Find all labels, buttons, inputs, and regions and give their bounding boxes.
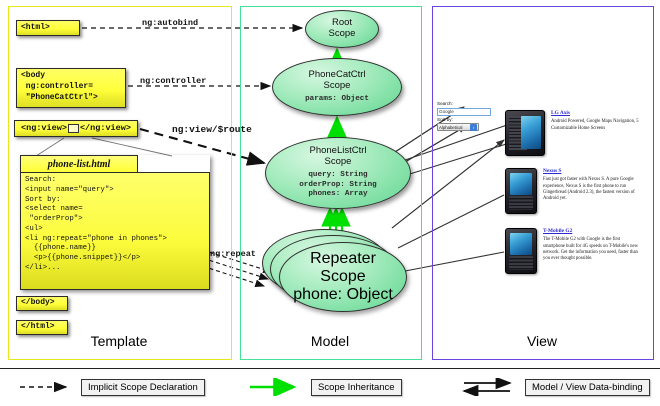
phone-name-link[interactable]: T-Mobile G2 bbox=[543, 228, 643, 234]
search-input[interactable]: Google bbox=[437, 108, 491, 116]
phone-body bbox=[509, 256, 533, 270]
panel-label-template: Template bbox=[8, 333, 230, 349]
scope-repeater: Repeater Scope phone: Object bbox=[279, 242, 407, 312]
legend-label: Implicit Scope Declaration bbox=[81, 379, 205, 396]
scope-phonecatctrl: PhoneCatCtrl Scope params: Object bbox=[272, 58, 402, 116]
code-box-ng-view: <ng:view> </ng:view> bbox=[14, 120, 138, 137]
square-placeholder-icon bbox=[68, 124, 79, 133]
double-arrow-icon bbox=[462, 378, 518, 396]
legend-item-implicit-scope-declaration: Implicit Scope Declaration bbox=[18, 378, 205, 396]
phone-snippet: Android Powered, Google Maps Navigation,… bbox=[551, 119, 651, 131]
scope-root: Root Scope bbox=[305, 10, 379, 48]
sort-by-label: Sort by: bbox=[437, 117, 495, 123]
phone-list-item[interactable]: LG Axis Android Powered, Google Maps Nav… bbox=[505, 110, 651, 156]
legend-label: Scope Inheritance bbox=[311, 379, 402, 396]
code-box-body-open: <body ng:controller= "PhoneCatCtrl"> bbox=[16, 68, 126, 108]
dashed-arrow-icon bbox=[18, 378, 74, 396]
legend-item-scope-inheritance: Scope Inheritance bbox=[248, 378, 402, 396]
phone-thumbnail-lg-axis[interactable] bbox=[505, 110, 545, 156]
ng-view-close-tag: </ng:view> bbox=[80, 123, 131, 134]
code-box-body-close: </body> bbox=[16, 296, 68, 311]
panel-label-model: Model bbox=[240, 333, 420, 349]
panel-label-view: View bbox=[432, 333, 652, 349]
phone-snippet: The T-Mobile G2 with Google is the first… bbox=[543, 237, 643, 262]
search-label: Search: bbox=[437, 101, 495, 107]
view-search-form: Search: Google Sort by: Alphabetical ↕ bbox=[437, 101, 495, 131]
scope-phonelistctrl-label: PhoneListCtrl Scope bbox=[309, 146, 366, 168]
phone-body bbox=[509, 196, 533, 210]
phone-list-item[interactable]: Nexus S Fast just got faster with Nexus … bbox=[505, 168, 643, 214]
ng-view-open-tag: <ng:view> bbox=[21, 123, 67, 134]
code-box-html-open: <html> bbox=[16, 20, 80, 36]
legend-label: Model / View Data-binding bbox=[525, 379, 650, 396]
phone-snippet: Fast just got faster with Nexus S. A pur… bbox=[543, 177, 643, 202]
file-card-title: phone-list.html bbox=[20, 155, 138, 173]
phone-name-link[interactable]: Nexus S bbox=[543, 168, 643, 174]
code-box-html-close: </html> bbox=[16, 320, 68, 335]
phone-thumbnail-t-mobile-g2[interactable] bbox=[505, 228, 537, 274]
file-card-code: Search: <input name="query"> Sort by: <s… bbox=[20, 172, 210, 290]
scope-repeater-stack: Repeater Scope phone: Object bbox=[262, 229, 412, 315]
phone-name-link[interactable]: LG Axis bbox=[551, 110, 651, 116]
phone-screen bbox=[510, 233, 532, 255]
sort-by-value: Alphabetical bbox=[439, 125, 462, 130]
diagram-canvas: Template Model View <html> <body ng:cont… bbox=[0, 0, 660, 405]
scope-phonecatctrl-label: PhoneCatCtrl Scope bbox=[308, 70, 365, 92]
phone-list-item[interactable]: T-Mobile G2 The T-Mobile G2 with Google … bbox=[505, 228, 643, 274]
select-arrows-icon: ↕ bbox=[470, 124, 477, 131]
scope-repeater-props: phone: Object bbox=[293, 286, 393, 304]
scope-phonelistctrl-props: query: String orderProp: String phones: … bbox=[299, 171, 376, 199]
edge-label-ng-view-route: ng:view/$route bbox=[172, 124, 252, 135]
edge-label-ng-autobind: ng:autobind bbox=[142, 18, 198, 28]
phone-thumbnail-nexus-s[interactable] bbox=[505, 168, 537, 214]
scope-root-label: Root Scope bbox=[329, 18, 356, 40]
edge-label-ng-controller: ng:controller bbox=[140, 76, 206, 86]
phone-screen bbox=[510, 173, 532, 195]
scope-phonelistctrl: PhoneListCtrl Scope query: String orderP… bbox=[265, 137, 411, 209]
scope-phonecatctrl-props: params: Object bbox=[305, 95, 369, 104]
file-card-phone-list: phone-list.html Search: <input name="que… bbox=[20, 155, 210, 290]
scope-repeater-label: Repeater Scope bbox=[310, 250, 376, 286]
edge-label-ng-repeat: ng:repeat bbox=[210, 249, 256, 259]
green-arrow-icon bbox=[248, 378, 304, 396]
legend: Implicit Scope Declaration Scope Inherit… bbox=[0, 368, 660, 406]
phone-screen bbox=[521, 116, 541, 149]
sort-by-select[interactable]: Alphabetical ↕ bbox=[437, 123, 479, 131]
legend-item-model-view-data-binding: Model / View Data-binding bbox=[462, 378, 650, 396]
